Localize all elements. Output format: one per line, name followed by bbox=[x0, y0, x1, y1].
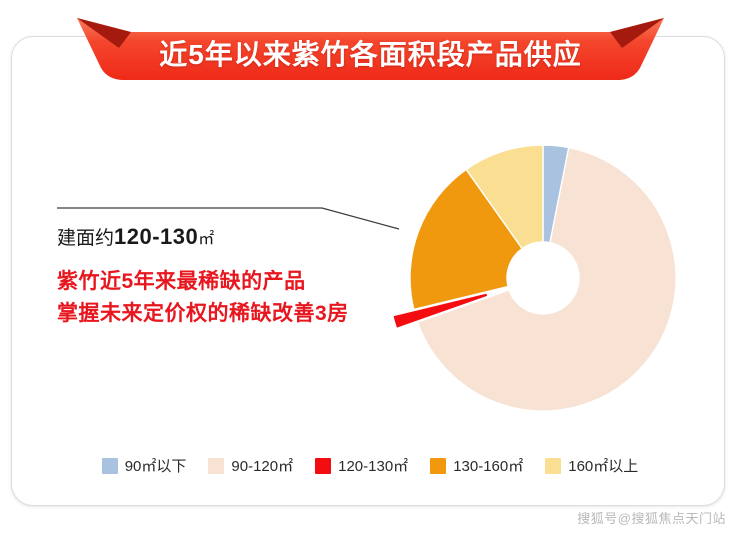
legend-label: 120-130㎡ bbox=[338, 455, 408, 476]
callout-unit: ㎡ bbox=[198, 231, 214, 248]
legend-label: 130-160㎡ bbox=[453, 455, 523, 476]
callout-lead: 建面约 bbox=[57, 228, 114, 249]
title-ribbon: 近5年以来紫竹各面积段产品供应 bbox=[77, 18, 664, 84]
legend-swatch bbox=[430, 458, 446, 474]
legend-swatch bbox=[102, 458, 118, 474]
legend-label: 90-120㎡ bbox=[231, 455, 293, 476]
legend-item[interactable]: 90㎡以下 bbox=[102, 455, 187, 476]
callout-emphasis: 120-130 bbox=[114, 224, 198, 249]
legend-item[interactable]: 90-120㎡ bbox=[208, 455, 293, 476]
legend-label: 160㎡以上 bbox=[568, 455, 638, 476]
legend-swatch bbox=[545, 458, 561, 474]
callout-heading: 建面约120-130㎡ bbox=[57, 222, 387, 252]
page-title: 近5年以来紫竹各面积段产品供应 bbox=[77, 18, 664, 84]
callout-block: 建面约120-130㎡ 紫竹近5年来最稀缺的产品 掌握未来定价权的稀缺改善3房 bbox=[57, 222, 387, 331]
chart-legend: 90㎡以下90-120㎡120-130㎡130-160㎡160㎡以上 bbox=[0, 455, 740, 476]
watermark: 搜狐号@搜狐焦点天门站 bbox=[577, 508, 726, 527]
legend-item[interactable]: 130-160㎡ bbox=[430, 455, 523, 476]
callout-red-line-1: 紫竹近5年来最稀缺的产品 bbox=[57, 266, 387, 299]
callout-red-line-2: 掌握未来定价权的稀缺改善3房 bbox=[57, 298, 387, 331]
legend-swatch bbox=[208, 458, 224, 474]
legend-swatch bbox=[315, 458, 331, 474]
legend-label: 90㎡以下 bbox=[125, 455, 187, 476]
legend-item[interactable]: 120-130㎡ bbox=[315, 455, 408, 476]
legend-item[interactable]: 160㎡以上 bbox=[545, 455, 638, 476]
